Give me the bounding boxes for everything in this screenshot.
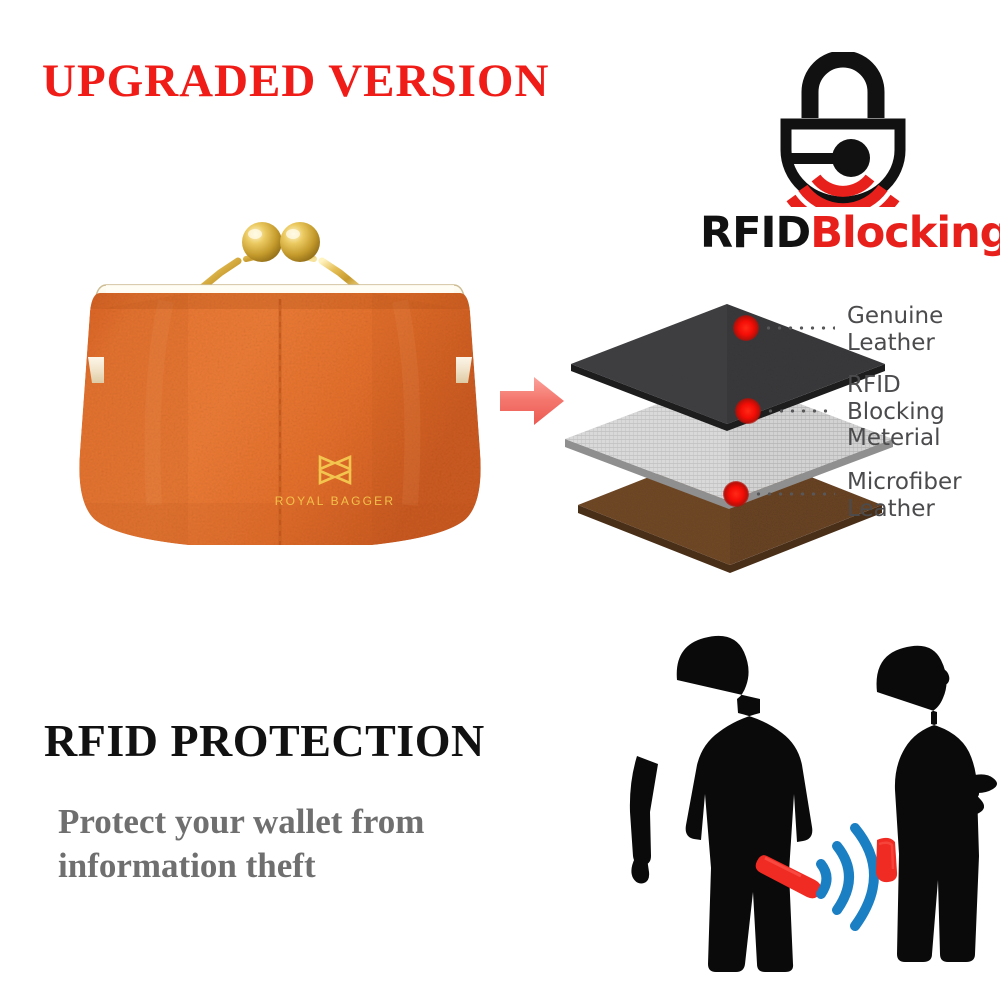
page-headline: UPGRADED VERSION [42,58,549,105]
layer-label-rfid-blocking-meterial: RFID Blocking Meterial [847,372,945,452]
promo-subtitle: Protect your wallet from information the… [58,800,578,888]
layer-label-microfiber-leather: Microfiber Leather [847,469,962,522]
leader-line-rfid-blocking-meterial [765,409,835,413]
thief-silhouette [630,636,812,972]
rfid-padlock-icon [758,52,928,207]
product-marketing-image: UPGRADED VERSION RFIDBlo [0,0,1000,1000]
victim-silhouette [877,646,997,962]
rfid-blocking-badge: RFIDBlocking [700,52,985,267]
blue-signal-waves [821,828,874,926]
rfid-blocking-wordmark: RFIDBlocking [700,212,985,255]
layer-label-genuine-leather: Genuine Leather [847,303,943,356]
layer-sheet-genuine-leather [565,290,895,445]
rfid-skimming-illustration [615,608,1000,983]
red-wallet-in-pocket [876,838,897,882]
leader-line-genuine-leather [763,326,835,330]
promo-title: RFID PROTECTION [44,718,485,764]
rfid-word-red: Blocking [810,208,1000,258]
kiss-lock-clasp [198,222,362,291]
product-photo-coin-purse: ROYAL BAGGER [70,215,490,575]
right-arrow-icon [498,373,566,429]
marker-dot-rfid-blocking-meterial [735,398,761,424]
material-layers-diagram: Genuine Leather RFID Blocking Meterial M… [495,285,1000,580]
marker-dot-genuine-leather [733,315,759,341]
rfid-word-dark: RFID [700,208,810,258]
marker-dot-microfiber-leather [723,481,749,507]
leader-line-microfiber-leather [753,492,835,496]
brand-text: ROYAL BAGGER [275,494,395,508]
